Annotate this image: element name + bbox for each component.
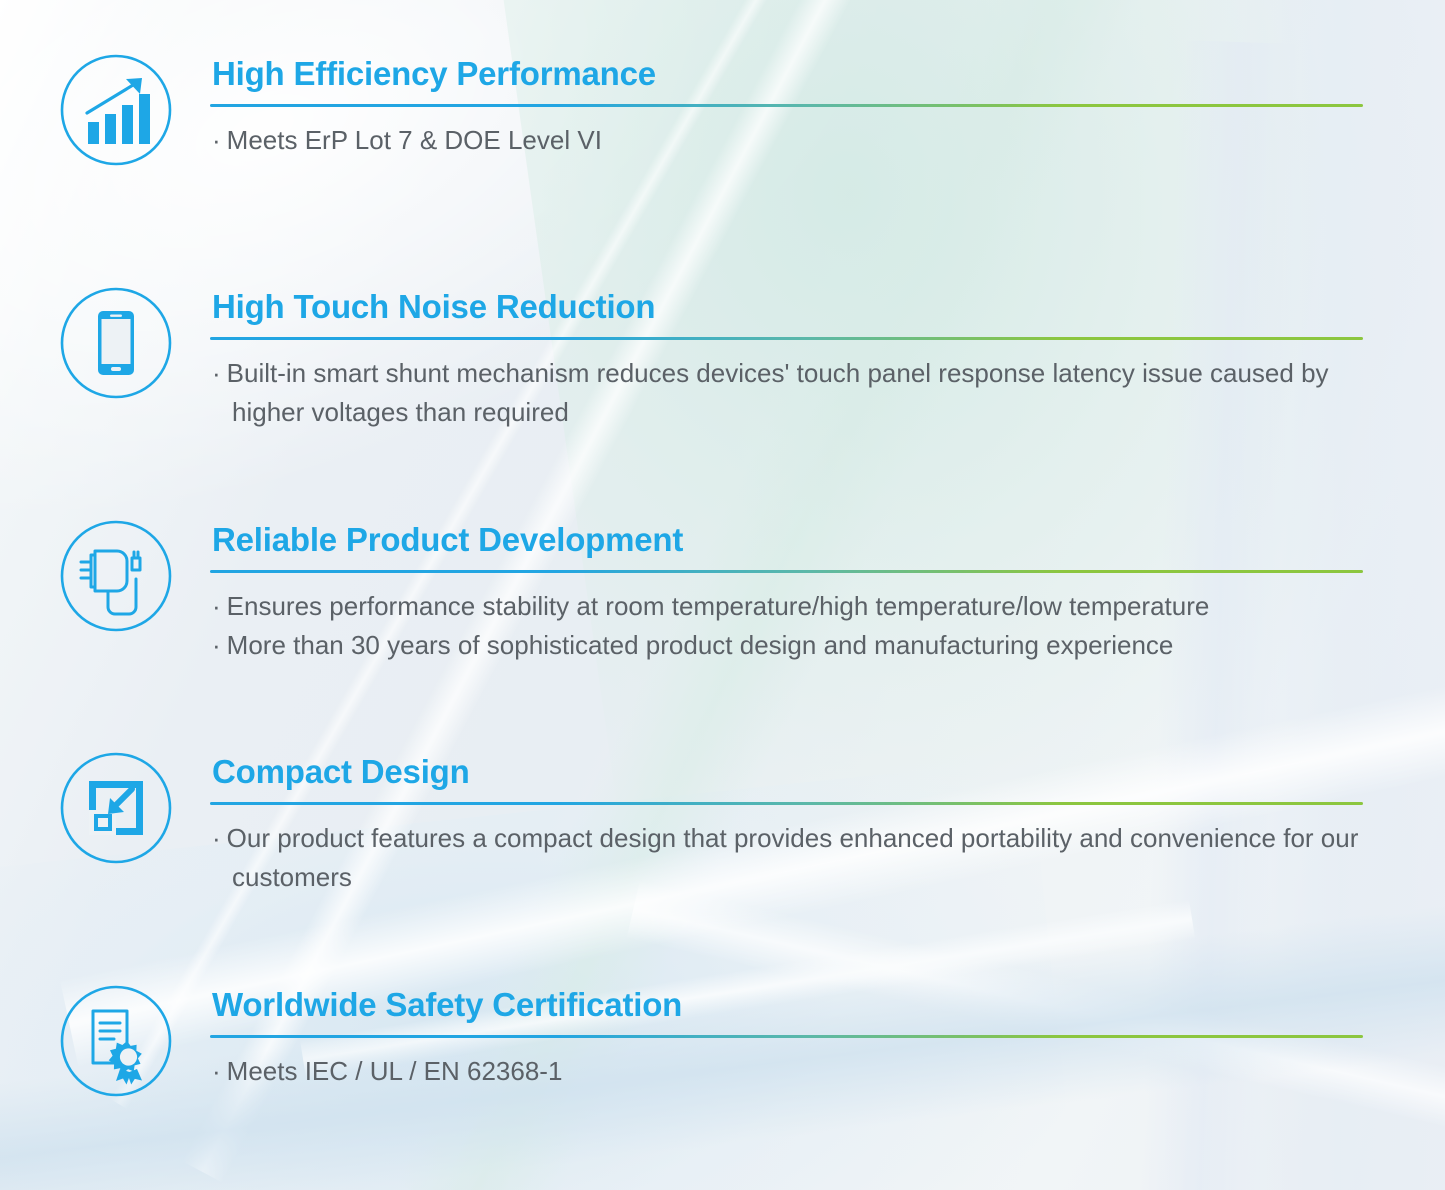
feature-icon-slot [52, 518, 180, 634]
feature-bullet-list: ·Ensures performance stability at room t… [210, 587, 1363, 665]
bar-chart-growth-icon [58, 52, 174, 168]
feature-bullet-text: Meets IEC / UL / EN 62368-1 [227, 1056, 563, 1086]
certificate-award-icon [58, 983, 174, 1099]
feature-item-compact-design: Compact Design ·Our product features a c… [0, 750, 1445, 897]
feature-bullet-line: ·Built-in smart shunt mechanism reduces … [212, 354, 1363, 432]
feature-divider [210, 570, 1363, 573]
smartphone-icon [58, 285, 174, 401]
bullet-marker: · [212, 125, 227, 155]
feature-title: Reliable Product Development [212, 520, 1363, 560]
feature-bullet-text: Built-in smart shunt mechanism reduces d… [227, 358, 1329, 427]
bullet-marker: · [212, 1056, 227, 1086]
feature-text-block: Worldwide Safety Certification ·Meets IE… [210, 983, 1363, 1091]
feature-title: High Touch Noise Reduction [212, 287, 1363, 327]
bullet-marker: · [212, 630, 227, 660]
feature-item-reliable-product-development: Reliable Product Development ·Ensures pe… [0, 518, 1445, 665]
feature-item-high-efficiency-performance: High Efficiency Performance ·Meets ErP L… [0, 52, 1445, 168]
bullet-marker: · [212, 358, 227, 388]
feature-bullet-list: ·Our product features a compact design t… [210, 819, 1363, 897]
feature-bullet-list: ·Meets ErP Lot 7 & DOE Level VI [210, 121, 1363, 160]
feature-item-high-touch-noise-reduction: High Touch Noise Reduction ·Built-in sma… [0, 285, 1445, 432]
feature-icon-slot [52, 285, 180, 401]
feature-text-block: Reliable Product Development ·Ensures pe… [210, 518, 1363, 665]
feature-title: Compact Design [212, 752, 1363, 792]
feature-icon-slot [52, 983, 180, 1099]
feature-bullet-text: Our product features a compact design th… [227, 823, 1359, 892]
bullet-marker: · [212, 591, 227, 621]
feature-bullet-list: ·Meets IEC / UL / EN 62368-1 [210, 1052, 1363, 1091]
feature-title: Worldwide Safety Certification [212, 985, 1363, 1025]
feature-bullet-text: More than 30 years of sophisticated prod… [227, 630, 1174, 660]
feature-divider [210, 802, 1363, 805]
feature-bullet-line: ·Meets ErP Lot 7 & DOE Level VI [212, 121, 1363, 160]
feature-bullet-line: ·Meets IEC / UL / EN 62368-1 [212, 1052, 1363, 1091]
feature-text-block: Compact Design ·Our product features a c… [210, 750, 1363, 897]
feature-icon-slot [52, 52, 180, 168]
bullet-marker: · [212, 823, 227, 853]
feature-divider [210, 1035, 1363, 1038]
feature-bullet-text: Meets ErP Lot 7 & DOE Level VI [227, 125, 602, 155]
feature-bullet-text: Ensures performance stability at room te… [227, 591, 1210, 621]
feature-divider [210, 104, 1363, 107]
compact-resize-icon [58, 750, 174, 866]
feature-icon-slot [52, 750, 180, 866]
feature-bullet-line: ·Our product features a compact design t… [212, 819, 1363, 897]
feature-item-worldwide-safety-certification: Worldwide Safety Certification ·Meets IE… [0, 983, 1445, 1099]
feature-list-page: High Efficiency Performance ·Meets ErP L… [0, 0, 1445, 1190]
feature-bullet-list: ·Built-in smart shunt mechanism reduces … [210, 354, 1363, 432]
power-adapter-icon [58, 518, 174, 634]
feature-title: High Efficiency Performance [212, 54, 1363, 94]
feature-divider [210, 337, 1363, 340]
feature-bullet-line: ·Ensures performance stability at room t… [212, 587, 1363, 626]
feature-text-block: High Efficiency Performance ·Meets ErP L… [210, 52, 1363, 160]
feature-text-block: High Touch Noise Reduction ·Built-in sma… [210, 285, 1363, 432]
feature-bullet-line: ·More than 30 years of sophisticated pro… [212, 626, 1363, 665]
